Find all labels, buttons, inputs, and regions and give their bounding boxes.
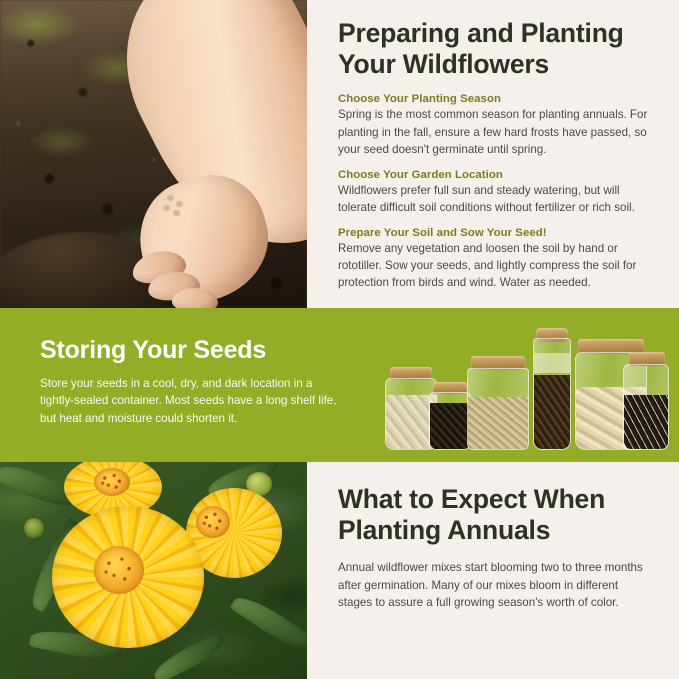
jar-seed-fill <box>430 403 470 449</box>
storing-title: Storing Your Seeds <box>40 336 340 365</box>
soil-sowing-photo <box>0 0 307 308</box>
planting-block-location: Choose Your Garden Location Wildflowers … <box>338 169 653 216</box>
subheading-planting-season: Choose Your Planting Season <box>338 93 653 105</box>
flower-center-disc <box>94 546 144 594</box>
expect-text-panel: What to Expect When Planting Annuals Ann… <box>307 462 679 679</box>
body-storing: Store your seeds in a cool, dry, and dar… <box>40 375 340 427</box>
storing-text-panel: Storing Your Seeds Store your seeds in a… <box>40 336 340 427</box>
body-garden-location: Wildflowers prefer full sun and steady w… <box>338 182 653 216</box>
body-expect: Annual wildflower mixes start blooming t… <box>338 559 653 610</box>
seed-jar <box>467 368 529 450</box>
jar-label-band <box>534 353 570 373</box>
planting-block-season: Choose Your Planting Season Spring is th… <box>338 93 653 157</box>
subheading-prepare-soil: Prepare Your Soil and Sow Your Seed! <box>338 227 653 239</box>
seed-dot <box>164 206 169 210</box>
seed-jars-photo <box>385 332 663 450</box>
seed-dot <box>168 196 173 200</box>
flower-bloom <box>52 506 204 648</box>
planting-block-soil: Prepare Your Soil and Sow Your Seed! Rem… <box>338 227 653 291</box>
coreopsis-flower-photo <box>0 462 307 679</box>
body-prepare-soil: Remove any vegetation and loosen the soi… <box>338 240 653 291</box>
flower-center-disc <box>94 468 130 496</box>
seed-dot <box>177 202 182 206</box>
flower-bud <box>24 518 44 538</box>
seed-jar <box>623 364 669 450</box>
storing-section: Storing Your Seeds Store your seeds in a… <box>0 308 679 462</box>
infographic-root: Preparing and Planting Your Wildflowers … <box>0 0 679 679</box>
body-planting-season: Spring is the most common season for pla… <box>338 106 653 157</box>
jar-seed-fill <box>624 395 668 449</box>
planting-text-panel: Preparing and Planting Your Wildflowers … <box>307 0 679 308</box>
jar-seed-fill <box>534 375 570 449</box>
seed-dot <box>174 211 179 215</box>
jar-seed-fill <box>468 397 528 449</box>
seed-jar <box>533 338 571 450</box>
planting-title: Preparing and Planting Your Wildflowers <box>338 18 653 79</box>
flower-center-disc <box>196 506 230 538</box>
planting-section: Preparing and Planting Your Wildflowers … <box>0 0 679 308</box>
seed-jar <box>429 392 471 450</box>
expect-section: What to Expect When Planting Annuals Ann… <box>0 462 679 679</box>
expect-title: What to Expect When Planting Annuals <box>338 484 653 545</box>
subheading-garden-location: Choose Your Garden Location <box>338 169 653 181</box>
